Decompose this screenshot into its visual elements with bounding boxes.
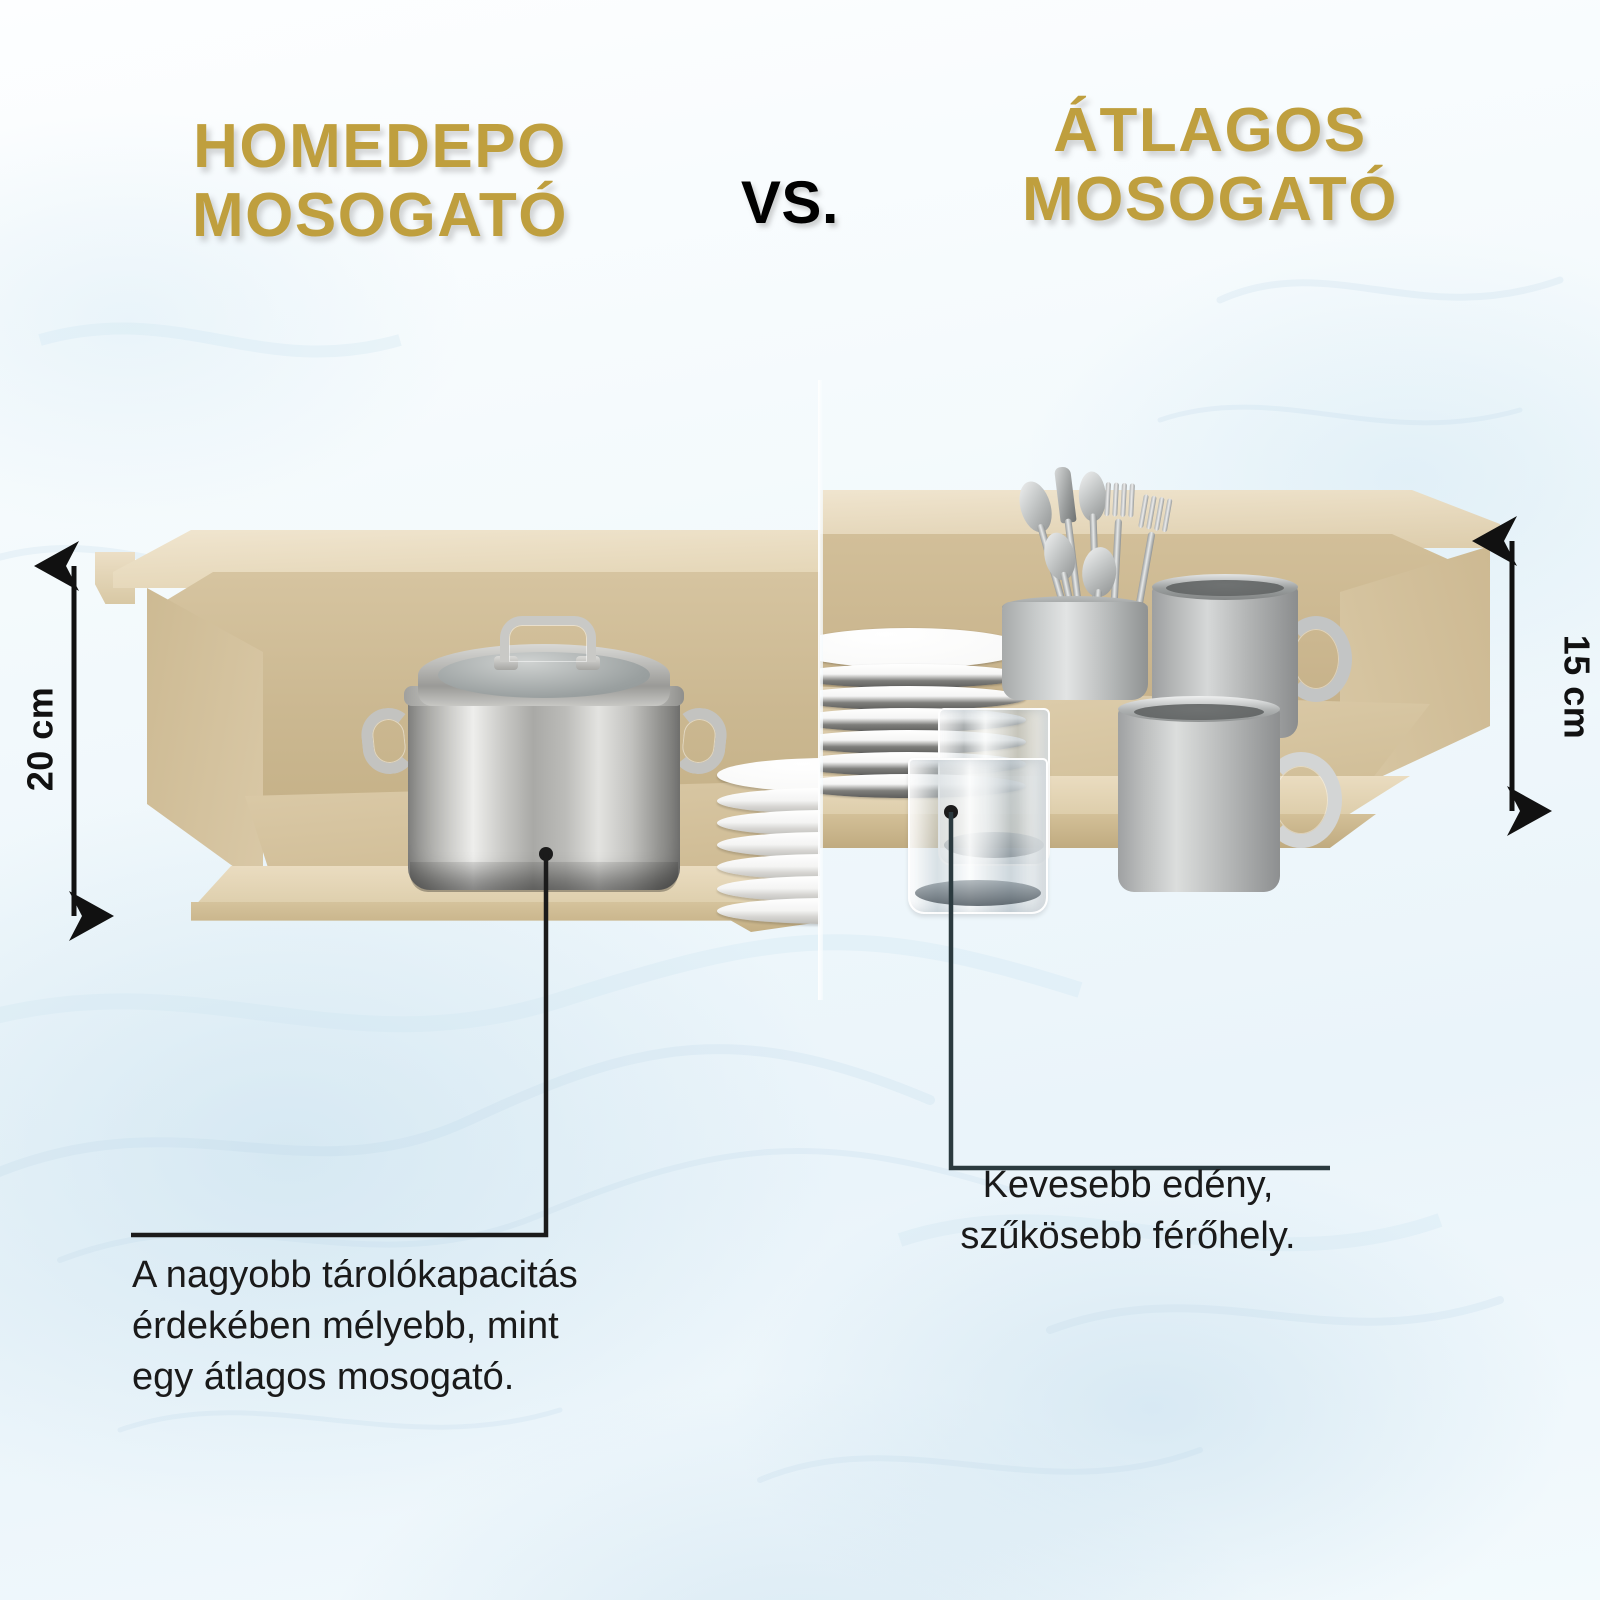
cutlery-holder-cup (1002, 602, 1148, 700)
versus-label: VS. (690, 168, 890, 237)
sink-comparison-photo (0, 380, 1600, 1000)
fork-tines (1104, 482, 1134, 523)
average-sink-basin (820, 490, 1500, 890)
page-title-left: HOMEDEPO MOSOGATÓ (60, 112, 700, 251)
dimension-label-left: 20 cm (19, 687, 61, 792)
spoon-bowl (1014, 478, 1057, 536)
drinking-glass-front (908, 758, 1048, 914)
caption-left: A nagyobb tárolókapacitás érdekében mély… (132, 1250, 652, 1403)
cutlery-holder (978, 480, 1188, 700)
mug-interior (1134, 704, 1264, 720)
left-sink-photo (0, 380, 820, 1000)
stainless-steel-stockpot (380, 600, 710, 900)
mug-body (1118, 708, 1280, 892)
pot-lid-handle (500, 616, 596, 662)
plate (717, 758, 820, 792)
pot-base-shadow (410, 862, 678, 892)
homedepo-sink-basin (95, 530, 820, 950)
caption-right: Kevesebb edény, szűkösebb férőhely. (928, 1160, 1328, 1262)
plate (717, 898, 820, 924)
plate-stack-left (717, 758, 820, 928)
gray-mug-front (1118, 708, 1348, 898)
page-title-right: ÁTLAGOS MOSOGATÓ (880, 96, 1540, 235)
knife-blade (1054, 466, 1077, 524)
pot-body (408, 692, 680, 890)
dimension-label-right: 15 cm (1555, 635, 1597, 740)
right-sink-photo (820, 380, 1600, 1000)
photo-seam-divider (818, 380, 823, 1000)
fork-tines (1137, 494, 1172, 538)
